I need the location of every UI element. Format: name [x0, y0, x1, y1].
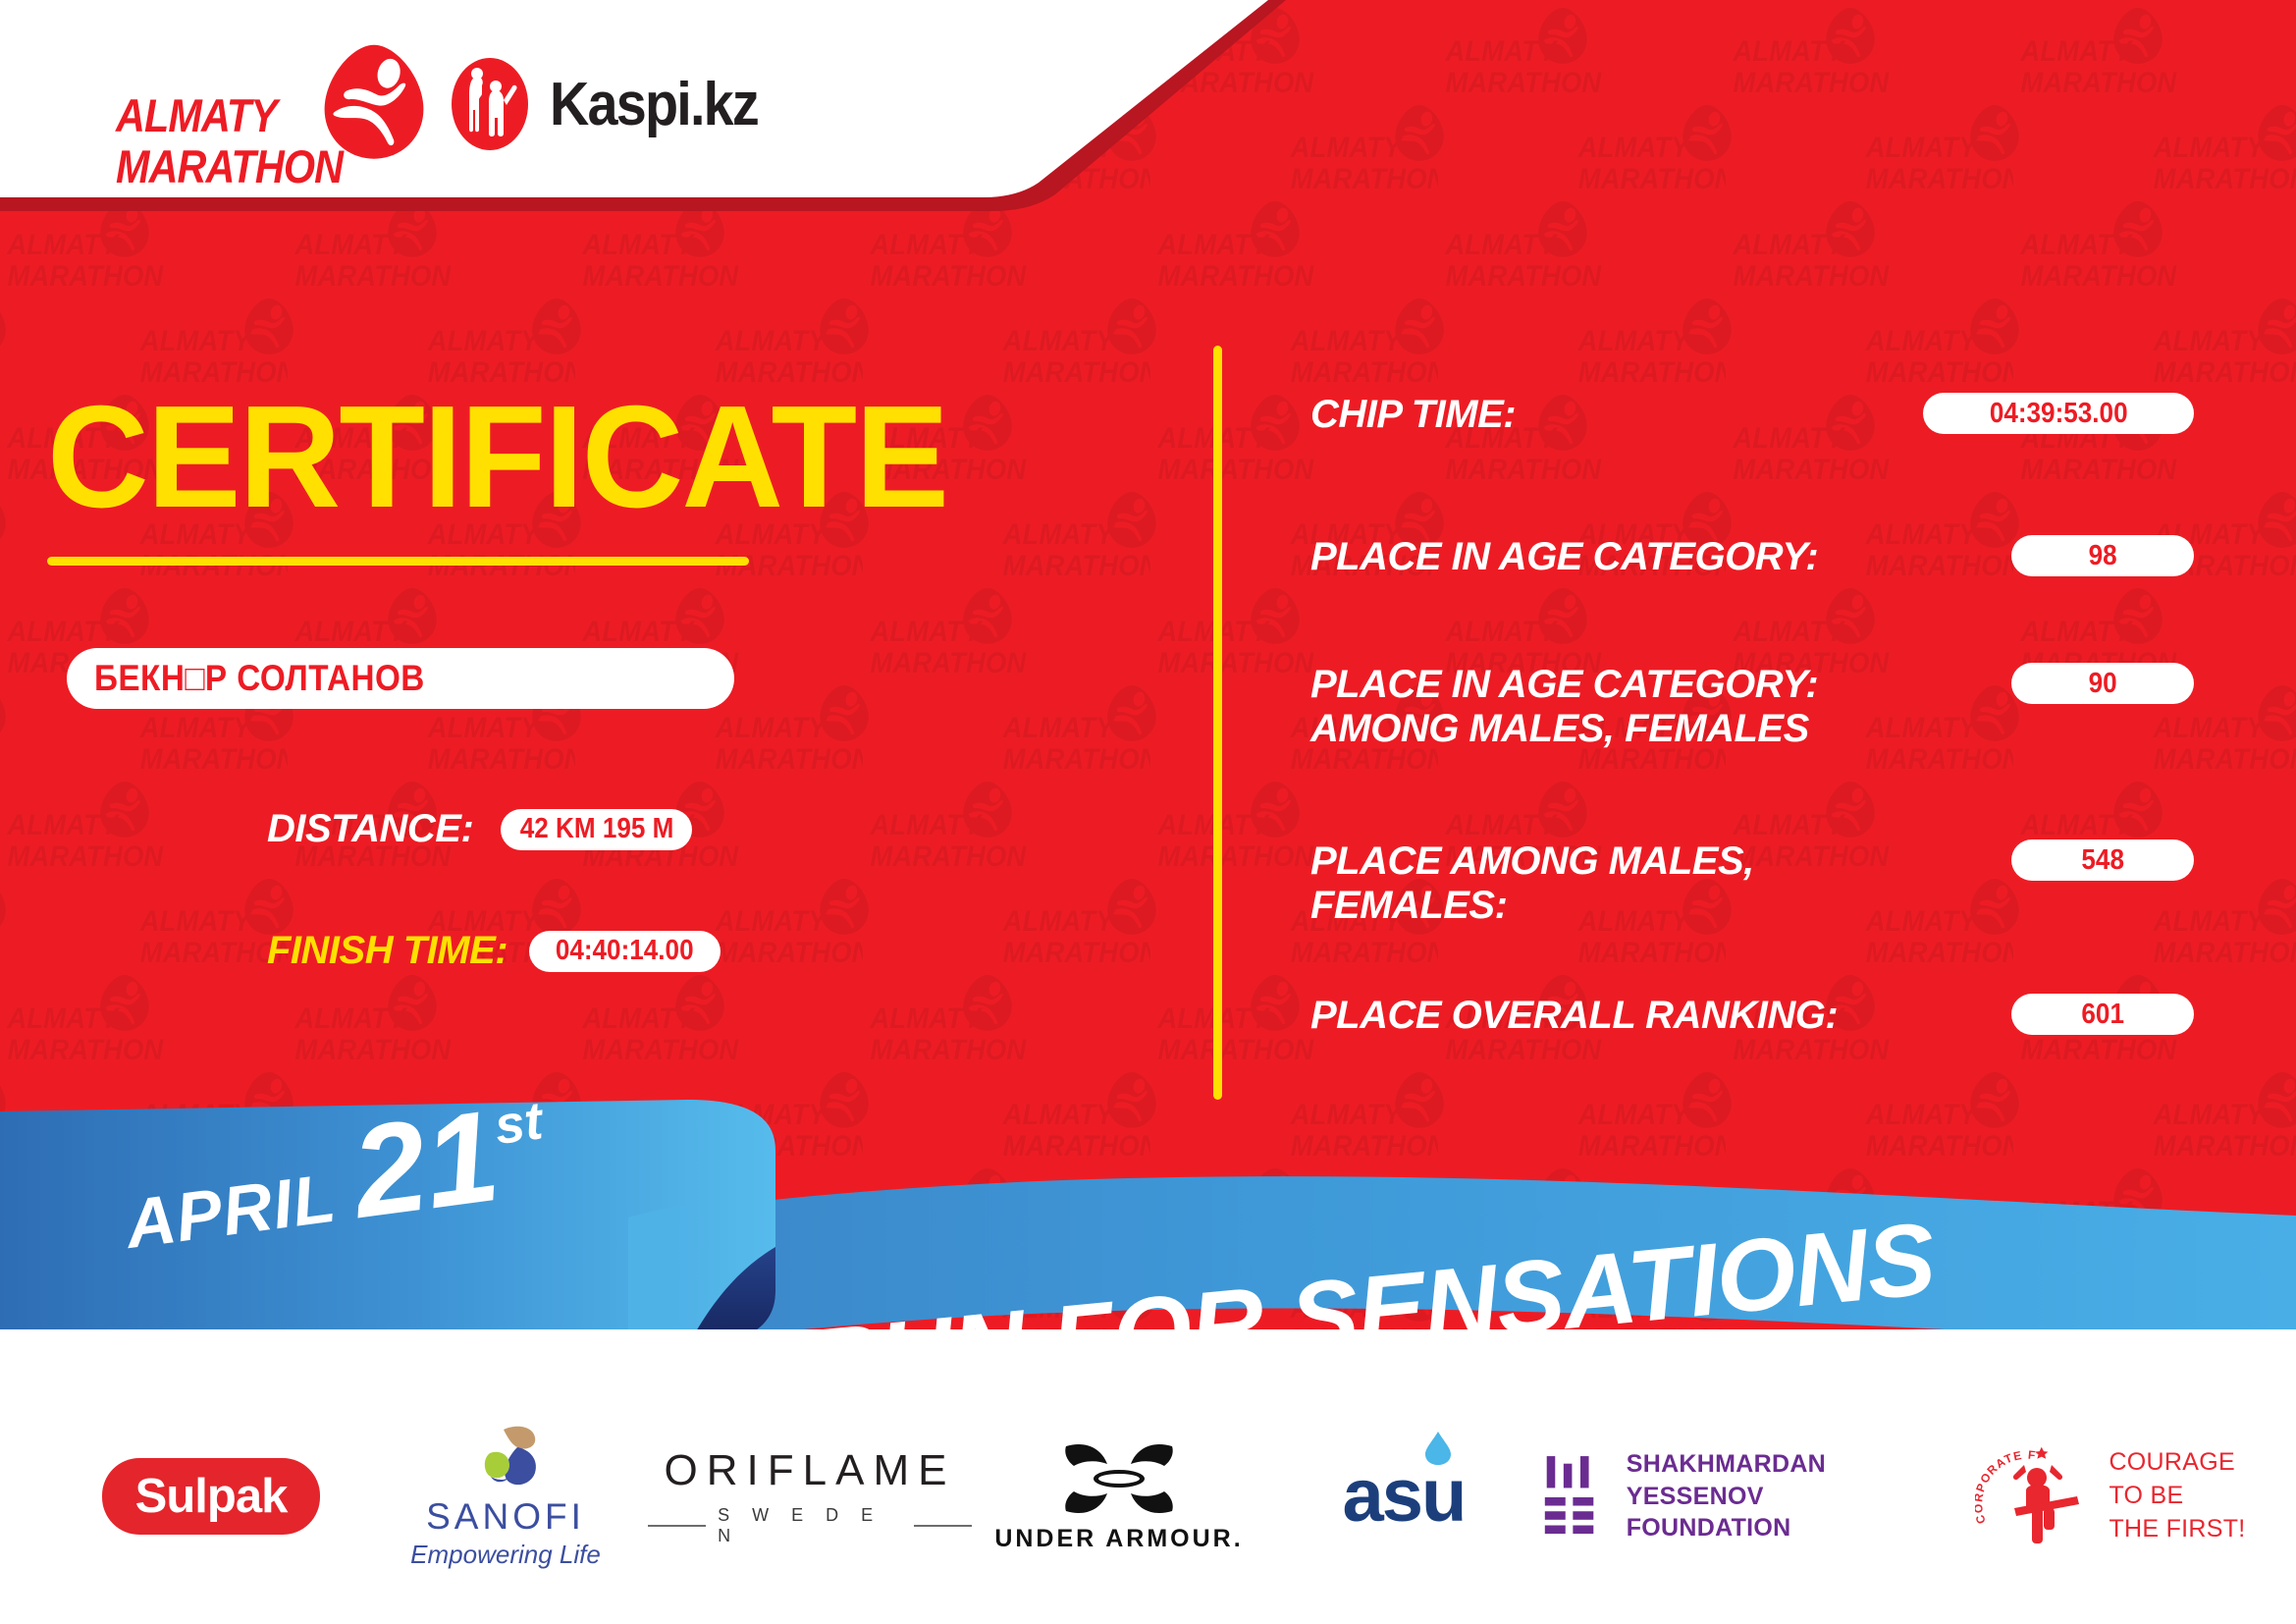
place-overall-label: PLACE OVERALL RANKING: [1310, 994, 1838, 1038]
finish-time-value-pill: 04:40:14.00 [529, 931, 721, 972]
under-armour-icon [1056, 1440, 1182, 1517]
yessenov-logo-line2: FOUNDATION [1627, 1512, 1953, 1544]
place-age-category-label: PLACE IN AGE CATEGORY: [1310, 535, 1818, 579]
almaty-logo-line2: MARATHON [116, 139, 343, 193]
sanofi-tagline: Empowering Life [410, 1540, 601, 1570]
sponsor-sanofi: SANOFI Empowering Life [363, 1424, 648, 1570]
oriflame-tagline: S W E D E N [718, 1505, 902, 1546]
distance-row: DISTANCE: 42 KM 195 M [267, 807, 692, 851]
place-overall-row: PLACE OVERALL RANKING: 601 [1310, 994, 2194, 1038]
almaty-logo-line1: ALMATY [116, 88, 277, 142]
place-age-category-gender-label: PLACE IN AGE CATEGORY: AMONG MALES, FEMA… [1310, 663, 1818, 751]
kaspi-logo: Kaspi.kz [452, 57, 781, 151]
place-among-gender-row: PLACE AMONG MALES, FEMALES: 548 [1310, 839, 2194, 928]
place-age-category-gender-value-pill: 90 [2011, 663, 2194, 704]
kaspi-people-icon [452, 57, 528, 151]
place-age-category-value: 98 [2088, 540, 2116, 572]
place-among-gender-label: PLACE AMONG MALES, FEMALES: [1310, 839, 1754, 928]
athlete-name-value: БЕКН□Р СОЛТАНОВ [94, 658, 425, 699]
place-age-category-gender-value: 90 [2088, 668, 2116, 700]
place-age-category-row: PLACE IN AGE CATEGORY: 98 [1310, 535, 2194, 579]
oriflame-rule-right [914, 1525, 972, 1527]
chip-time-row: CHIP TIME: 04:39:53.00 [1310, 393, 2194, 437]
under-armour-logo-text: UNDER ARMOUR. [994, 1525, 1243, 1553]
sanofi-bird-icon [460, 1424, 551, 1492]
sulpak-logo-text: Sulpak [102, 1458, 321, 1535]
asu-logo-text: asu [1343, 1459, 1466, 1534]
yessenov-bars-icon [1541, 1454, 1605, 1539]
courage-logo-line2: TO BE [2109, 1480, 2245, 1513]
page-title: CERTIFICATE [47, 385, 947, 530]
asu-droplet-icon [1425, 1432, 1451, 1465]
event-month: APRIL [121, 1159, 341, 1264]
yessenov-logo-line1: SHAKHMARDAN YESSENOV [1627, 1448, 1953, 1512]
place-overall-value: 601 [2081, 999, 2124, 1031]
sponsor-row: Sulpak SANOFI Empowering Life ORIFLAME S… [0, 1369, 2296, 1624]
almaty-marathon-logo: ALMATY MARATHON [116, 41, 440, 169]
sponsor-oriflame: ORIFLAME S W E D E N [648, 1446, 972, 1546]
vertical-divider [1213, 346, 1222, 1100]
sponsor-yessenov: SHAKHMARDAN YESSENOV FOUNDATION [1541, 1448, 1953, 1544]
sponsor-sulpak: Sulpak [59, 1458, 363, 1535]
finish-time-row: FINISH TIME: 04:40:14.00 [267, 929, 721, 973]
oriflame-rule-left [648, 1525, 706, 1527]
courage-logo-line3: THE FIRST! [2109, 1513, 2245, 1546]
finish-time-label: FINISH TIME: [267, 929, 507, 973]
oriflame-sub: S W E D E N [648, 1505, 972, 1546]
event-date: APRIL 21 st [116, 1092, 552, 1264]
event-day: 21 [347, 1098, 505, 1232]
chip-time-value: 04:39:53.00 [1990, 398, 2128, 430]
sponsor-under-armour: UNDER ARMOUR. [972, 1440, 1266, 1553]
place-among-gender-value-pill: 548 [2011, 839, 2194, 881]
sponsor-courage: CORPORATE FUND COURAGE TO BE THE FIRST! [1953, 1443, 2268, 1549]
distance-label: DISTANCE: [267, 807, 473, 851]
certificate-page: ALMATY MARATHON Kaspi.kz CERTIFICATE БЕК… [0, 0, 2296, 1624]
event-day-ordinal: st [491, 1090, 546, 1157]
chip-time-label: CHIP TIME: [1310, 393, 1516, 437]
courage-logo-line1: COURAGE [2109, 1446, 2245, 1480]
kaspi-logo-text: Kaspi.kz [550, 70, 758, 139]
finish-time-value: 04:40:14.00 [556, 935, 694, 967]
place-age-category-gender-row: PLACE IN AGE CATEGORY: AMONG MALES, FEMA… [1310, 663, 2194, 751]
place-among-gender-value: 548 [2081, 844, 2124, 877]
sponsor-asu: asu [1266, 1459, 1541, 1534]
distance-value: 42 KM 195 M [519, 813, 673, 845]
sanofi-logo-text: SANOFI [426, 1496, 585, 1538]
athlete-name-field: БЕКН□Р СОЛТАНОВ [67, 648, 734, 709]
oriflame-logo-text: ORIFLAME [665, 1446, 956, 1495]
distance-value-pill: 42 KM 195 M [501, 809, 692, 850]
place-overall-value-pill: 601 [2011, 994, 2194, 1035]
chip-time-value-pill: 04:39:53.00 [1923, 393, 2194, 434]
place-age-category-value-pill: 98 [2011, 535, 2194, 576]
courage-runner-icon: CORPORATE FUND [1975, 1443, 2093, 1549]
title-underline [47, 557, 749, 566]
